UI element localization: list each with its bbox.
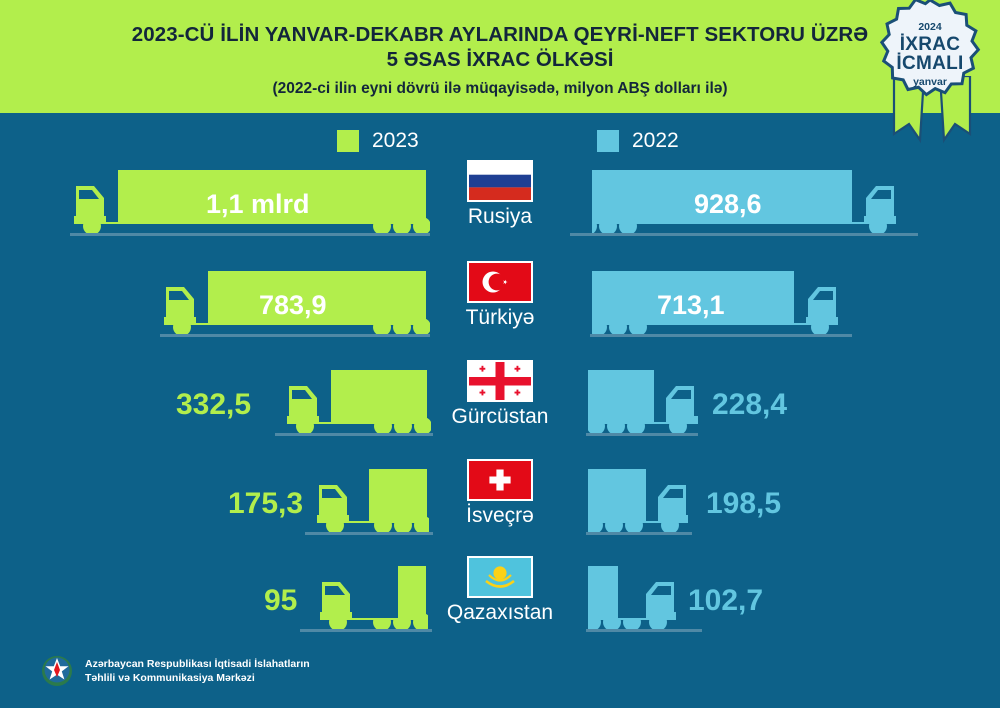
footer-text: Azərbaycan Respublikası İqtisadi İslahat… — [85, 657, 310, 685]
page-title-line2: 5 ƏSAS İXRAC ÖLKƏSİ — [0, 47, 1000, 73]
data-row-isvecre: 175,3 İsveçrə — [0, 459, 1000, 555]
kazakhstan-flag — [467, 556, 533, 598]
header-banner: 2023-CÜ İLİN YANVAR-DEKABR AYLARINDA QEY… — [0, 0, 1000, 113]
country-label-isvecre: İsveçrə — [466, 504, 534, 528]
legend-item-2022: 2022 — [597, 129, 679, 153]
baseline-left-rusiya — [70, 233, 430, 236]
title-block: 2023-CÜ İLİN YANVAR-DEKABR AYLARINDA QEY… — [0, 22, 1000, 99]
page-subtitle: (2022-ci ilin eyni dövrü ilə müqayisədə,… — [0, 79, 1000, 99]
baseline-left-gurcustan — [275, 433, 433, 436]
baseline-right-turkiye — [590, 334, 852, 337]
country-block-turkiye: Türkiyə — [0, 261, 1000, 330]
footer: Azərbaycan Respublikası İqtisadi İslahat… — [40, 654, 310, 688]
data-row-turkiye: 783,9 Türkiyə 713,1 — [0, 261, 1000, 357]
azerbaijan-emblem-logo-icon — [40, 654, 74, 688]
export-review-badge: 2024 İXRAC İCMALI yanvar — [874, 0, 986, 146]
data-row-rusiya: 1,1 mlrd Rusiya 928,6 — [0, 160, 1000, 256]
baseline-right-isvecre — [586, 532, 692, 535]
country-block-isvecre: İsveçrə — [0, 459, 1000, 528]
russia-flag — [467, 160, 533, 202]
footer-line1: Azərbaycan Respublikası İqtisadi İslahat… — [85, 657, 310, 671]
country-label-qazaxistan: Qazaxıstan — [447, 601, 553, 625]
data-row-gurcustan: 332,5 Gürcüstan — [0, 360, 1000, 456]
country-label-gurcustan: Gürcüstan — [452, 405, 549, 429]
badge-month: yanvar — [874, 76, 986, 88]
value-2022-isvecre: 198,5 — [706, 487, 781, 521]
country-label-turkiye: Türkiyə — [466, 306, 535, 330]
country-block-gurcustan: Gürcüstan — [0, 360, 1000, 429]
baseline-right-gurcustan — [586, 433, 698, 436]
value-2022-rusiya: 928,6 — [694, 189, 762, 220]
baseline-right-qazaxistan — [586, 629, 702, 632]
baseline-left-qazaxistan — [300, 629, 432, 632]
georgia-flag — [467, 360, 533, 402]
baseline-left-isvecre — [305, 532, 433, 535]
value-2022-qazaxistan: 102,7 — [688, 584, 763, 618]
chart-legend: 2023 2022 — [0, 129, 1000, 157]
truck-icon-2022-isvecre — [588, 459, 692, 539]
legend-label-2022: 2022 — [632, 129, 679, 153]
badge-year: 2024 — [874, 21, 986, 33]
country-label-rusiya: Rusiya — [468, 205, 532, 229]
value-2022-gurcustan: 228,4 — [712, 388, 787, 422]
legend-item-2023: 2023 — [337, 129, 419, 153]
truck-icon-2022-gurcustan — [588, 360, 700, 440]
legend-swatch-blue — [597, 130, 619, 152]
footer-line2: Təhlili və Kommunikasiya Mərkəzi — [85, 671, 310, 685]
page-title-line1: 2023-CÜ İLİN YANVAR-DEKABR AYLARINDA QEY… — [0, 22, 1000, 47]
turkey-flag — [467, 261, 533, 303]
data-row-qazaxistan: 95 Qazaxıstan — [0, 556, 1000, 652]
country-block-qazaxistan: Qazaxıstan — [0, 556, 1000, 625]
legend-label-2023: 2023 — [372, 129, 419, 153]
badge-line2: İCMALI — [874, 53, 986, 75]
baseline-left-turkiye — [160, 334, 430, 337]
legend-swatch-green — [337, 130, 359, 152]
switzerland-flag — [467, 459, 533, 501]
baseline-right-rusiya — [570, 233, 918, 236]
value-2022-turkiye: 713,1 — [657, 290, 725, 321]
truck-icon-2022-qazaxistan — [588, 556, 680, 636]
